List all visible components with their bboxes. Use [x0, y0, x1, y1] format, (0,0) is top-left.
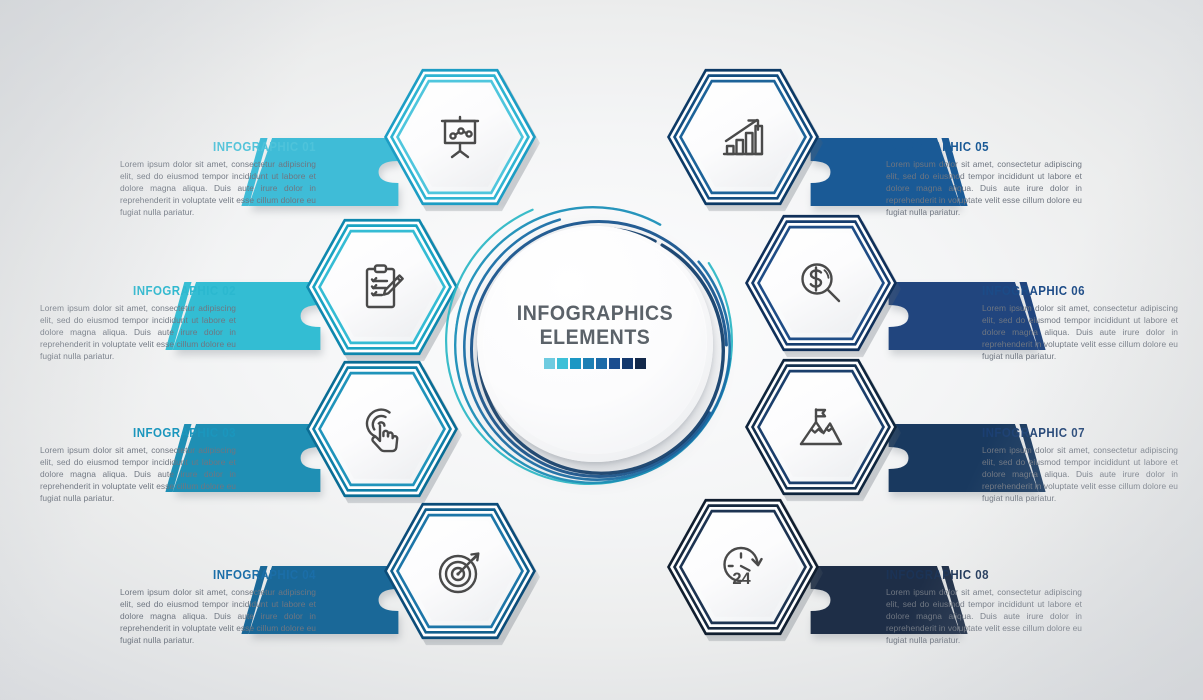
item-body-2: Lorem ipsum dolor sit amet, consectetur … [40, 302, 236, 362]
item-label-5: INFOGRAPHIC 05 [886, 140, 1066, 154]
text-block-2: INFOGRAPHIC 02 Lorem ipsum dolor sit ame… [40, 284, 236, 362]
item-label-8: INFOGRAPHIC 08 [886, 568, 1066, 582]
color-swatch-8 [635, 358, 646, 369]
hexagon-1[interactable] [384, 66, 536, 208]
item-label-4: INFOGRAPHIC 04 [136, 568, 316, 582]
item-body-8: Lorem ipsum dolor sit amet, consectetur … [886, 586, 1082, 646]
item-body-3: Lorem ipsum dolor sit amet, consectetur … [40, 444, 236, 504]
item-label-6: INFOGRAPHIC 06 [982, 284, 1162, 298]
text-block-1: INFOGRAPHIC 01 Lorem ipsum dolor sit ame… [120, 140, 316, 218]
target-arrow-icon [384, 500, 536, 642]
item-body-5: Lorem ipsum dolor sit amet, consectetur … [886, 158, 1082, 218]
center-title-line2: ELEMENTS [465, 326, 725, 350]
item-body-4: Lorem ipsum dolor sit amet, consectetur … [120, 586, 316, 646]
center-emblem: INFOGRAPHICS ELEMENTS [455, 198, 735, 488]
center-title-line1: INFOGRAPHICS [465, 302, 725, 326]
item-label-7: INFOGRAPHIC 07 [982, 426, 1162, 440]
color-swatch-7 [622, 358, 633, 369]
presentation-chart-icon [384, 66, 536, 208]
dollar-search-icon [745, 212, 897, 354]
text-block-6: INFOGRAPHIC 06 Lorem ipsum dolor sit ame… [982, 284, 1178, 362]
hexagon-4[interactable] [384, 500, 536, 642]
item-body-1: Lorem ipsum dolor sit amet, consectetur … [120, 158, 316, 218]
text-block-7: INFOGRAPHIC 07 Lorem ipsum dolor sit ame… [982, 426, 1178, 504]
text-block-8: INFOGRAPHIC 08 Lorem ipsum dolor sit ame… [886, 568, 1082, 646]
hexagon-6[interactable] [745, 212, 897, 354]
item-body-6: Lorem ipsum dolor sit amet, consectetur … [982, 302, 1178, 362]
color-swatch-3 [570, 358, 581, 369]
center-title: INFOGRAPHICS ELEMENTS [465, 302, 725, 350]
color-swatch-2 [557, 358, 568, 369]
color-swatch-strip [455, 358, 735, 369]
clock-24-icon: 24 [667, 496, 819, 638]
color-swatch-5 [596, 358, 607, 369]
text-block-4: INFOGRAPHIC 04 Lorem ipsum dolor sit ame… [120, 568, 316, 646]
item-label-2: INFOGRAPHIC 02 [56, 284, 236, 298]
hexagon-8[interactable]: 24 [667, 496, 819, 638]
color-swatch-1 [544, 358, 555, 369]
item-label-1: INFOGRAPHIC 01 [136, 140, 316, 154]
text-block-5: INFOGRAPHIC 05 Lorem ipsum dolor sit ame… [886, 140, 1082, 218]
text-block-3: INFOGRAPHIC 03 Lorem ipsum dolor sit ame… [40, 426, 236, 504]
color-swatch-6 [609, 358, 620, 369]
color-swatch-4 [583, 358, 594, 369]
item-label-3: INFOGRAPHIC 03 [56, 426, 236, 440]
svg-text:24: 24 [732, 570, 751, 588]
item-body-7: Lorem ipsum dolor sit amet, consectetur … [982, 444, 1178, 504]
infographic-canvas: INFOGRAPHIC 01 Lorem ipsum dolor sit ame… [0, 0, 1203, 700]
